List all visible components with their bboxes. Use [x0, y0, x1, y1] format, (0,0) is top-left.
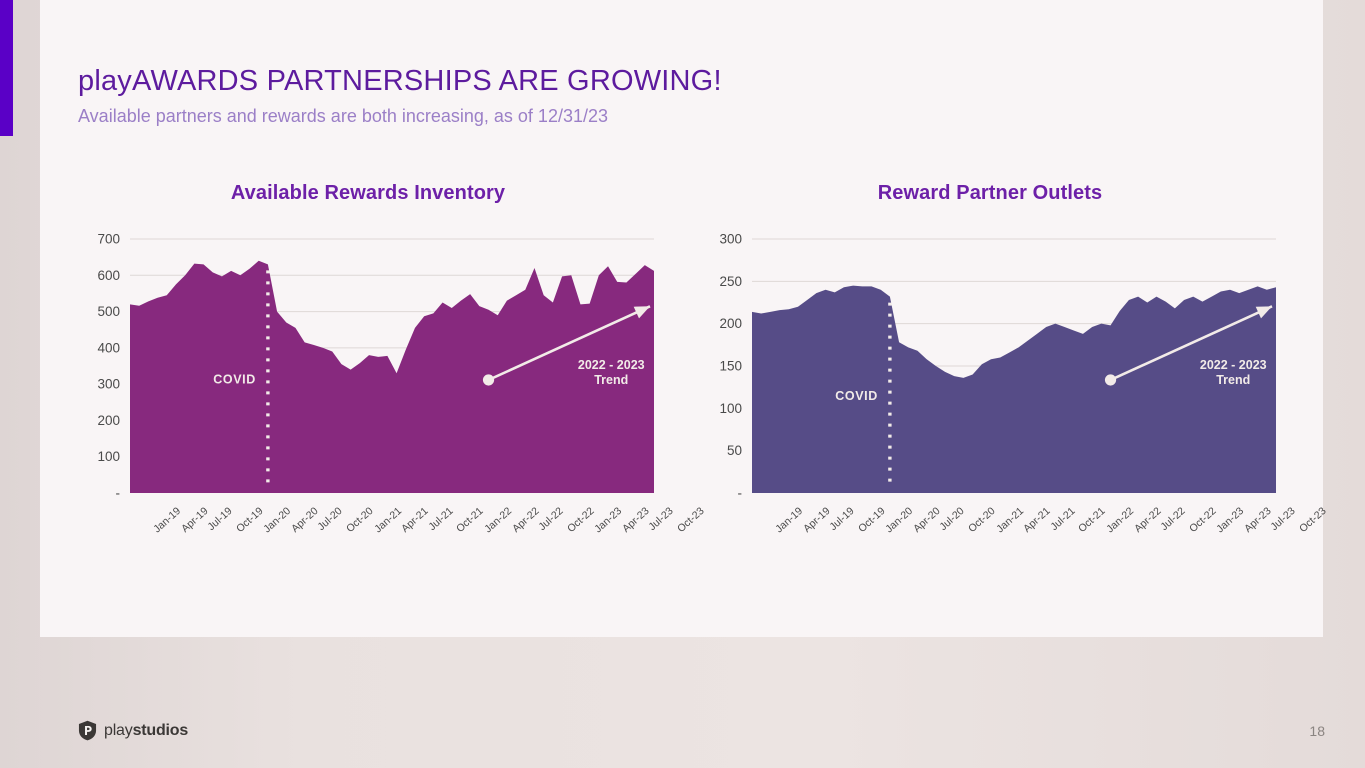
x-axis-tick-label: Oct-20 [344, 505, 375, 535]
x-axis-tick-label: Apr-22 [1132, 505, 1163, 535]
x-axis-tick-label: Oct-21 [1076, 505, 1107, 535]
x-axis-tick-label: Jan-19 [151, 505, 183, 535]
x-axis-tick-label: Apr-23 [1242, 505, 1273, 535]
x-axis-tick-label: Jan-23 [1214, 505, 1246, 535]
x-axis-tick-label: Oct-19 [856, 505, 887, 535]
y-axis-tick-label: 300 [97, 377, 120, 392]
trend-arrow-start-dot [483, 374, 494, 385]
x-axis-tick-label: Jul-19 [828, 505, 857, 533]
x-axis-tick-label: Jul-21 [426, 505, 455, 533]
y-axis-tick-label: 250 [719, 274, 742, 289]
chart-plot-rewards-inventory: -100200300400500600700COVID2022 - 2023Tr… [78, 225, 678, 551]
x-axis-tick-label: Jan-19 [773, 505, 805, 535]
x-axis-tick-label: Jan-23 [592, 505, 624, 535]
y-axis-tick-label: 700 [97, 232, 120, 247]
playstudios-logo: playstudios [78, 720, 188, 741]
y-axis-tick-label: - [116, 486, 121, 501]
x-axis-tick-label: Apr-21 [399, 505, 430, 535]
x-axis-tick-label: Apr-22 [510, 505, 541, 535]
x-axis-tick-label: Oct-22 [565, 505, 596, 535]
covid-annotation-label: COVID [835, 389, 878, 403]
y-axis-tick-label: 100 [97, 449, 120, 464]
chart-panel-partner-outlets: Reward Partner Outlets -5010015020025030… [700, 182, 1300, 551]
y-axis-tick-label: 50 [727, 443, 742, 458]
chart-title-rewards-inventory: Available Rewards Inventory [78, 182, 658, 205]
x-axis-labels-partner-outlets: Jan-19Apr-19Jul-19Oct-19Jan-20Apr-20Jul-… [700, 505, 1300, 551]
chart-plot-partner-outlets: -50100150200250300COVID2022 - 2023Trend … [700, 225, 1300, 551]
x-axis-tick-label: Apr-21 [1021, 505, 1052, 535]
logo-text-studios: studios [133, 722, 189, 739]
x-axis-tick-label: Jan-20 [262, 505, 294, 535]
trend-annotation-label: Trend [1216, 373, 1250, 387]
trend-annotation-label: 2022 - 2023 [1200, 358, 1267, 372]
y-axis-tick-label: 400 [97, 340, 120, 355]
chart-panel-rewards-inventory: Available Rewards Inventory -10020030040… [78, 182, 678, 551]
shield-logo-icon [78, 720, 97, 741]
x-axis-tick-label: Jan-20 [884, 505, 916, 535]
x-axis-tick-label: Jul-22 [536, 505, 565, 533]
trend-arrow-start-dot [1105, 374, 1116, 385]
trend-annotation-label: 2022 - 2023 [578, 358, 645, 372]
logo-text: playstudios [104, 722, 188, 740]
x-axis-tick-label: Jul-21 [1048, 505, 1077, 533]
x-axis-tick-label: Apr-20 [911, 505, 942, 535]
x-axis-tick-label: Oct-22 [1187, 505, 1218, 535]
x-axis-tick-label: Jul-23 [647, 505, 676, 533]
x-axis-tick-label: Jul-23 [1269, 505, 1298, 533]
area-series [130, 261, 654, 493]
x-axis-tick-label: Jan-21 [372, 505, 404, 535]
x-axis-tick-label: Oct-21 [454, 505, 485, 535]
area-chart-partner-outlets: -50100150200250300COVID2022 - 2023Trend [700, 225, 1280, 505]
x-axis-tick-label: Apr-19 [179, 505, 210, 535]
y-axis-tick-label: 300 [719, 232, 742, 247]
page-number: 18 [1309, 723, 1325, 739]
x-axis-tick-label: Apr-20 [289, 505, 320, 535]
chart-title-partner-outlets: Reward Partner Outlets [700, 182, 1280, 205]
page-subtitle: Available partners and rewards are both … [78, 106, 978, 128]
x-axis-tick-label: Apr-19 [801, 505, 832, 535]
y-axis-tick-label: 100 [719, 401, 742, 416]
x-axis-tick-label: Jan-21 [994, 505, 1026, 535]
covid-annotation-label: COVID [213, 373, 256, 387]
x-axis-tick-label: Jan-22 [482, 505, 514, 535]
x-axis-tick-label: Jul-19 [206, 505, 235, 533]
accent-bar [0, 0, 13, 136]
y-axis-tick-label: 200 [719, 316, 742, 331]
x-axis-tick-label: Oct-20 [966, 505, 997, 535]
trend-annotation-label: Trend [594, 373, 628, 387]
y-axis-tick-label: - [738, 486, 743, 501]
y-axis-tick-label: 150 [719, 359, 742, 374]
x-axis-tick-label: Jul-20 [316, 505, 345, 533]
x-axis-tick-label: Oct-19 [234, 505, 265, 535]
logo-text-play: play [104, 722, 133, 739]
area-chart-rewards-inventory: -100200300400500600700COVID2022 - 2023Tr… [78, 225, 658, 505]
x-axis-tick-label: Jul-20 [938, 505, 967, 533]
x-axis-tick-label: Apr-23 [620, 505, 651, 535]
slide-header: playAWARDS PARTNERSHIPS ARE GROWING! Ava… [78, 64, 978, 127]
area-series [752, 286, 1276, 493]
page-title: playAWARDS PARTNERSHIPS ARE GROWING! [78, 64, 978, 99]
y-axis-tick-label: 500 [97, 304, 120, 319]
y-axis-tick-label: 200 [97, 413, 120, 428]
x-axis-tick-label: Jul-22 [1158, 505, 1187, 533]
x-axis-tick-label: Jan-22 [1104, 505, 1136, 535]
slide-root: playAWARDS PARTNERSHIPS ARE GROWING! Ava… [0, 0, 1365, 768]
x-axis-labels-rewards-inventory: Jan-19Apr-19Jul-19Oct-19Jan-20Apr-20Jul-… [78, 505, 678, 551]
y-axis-tick-label: 600 [97, 268, 120, 283]
